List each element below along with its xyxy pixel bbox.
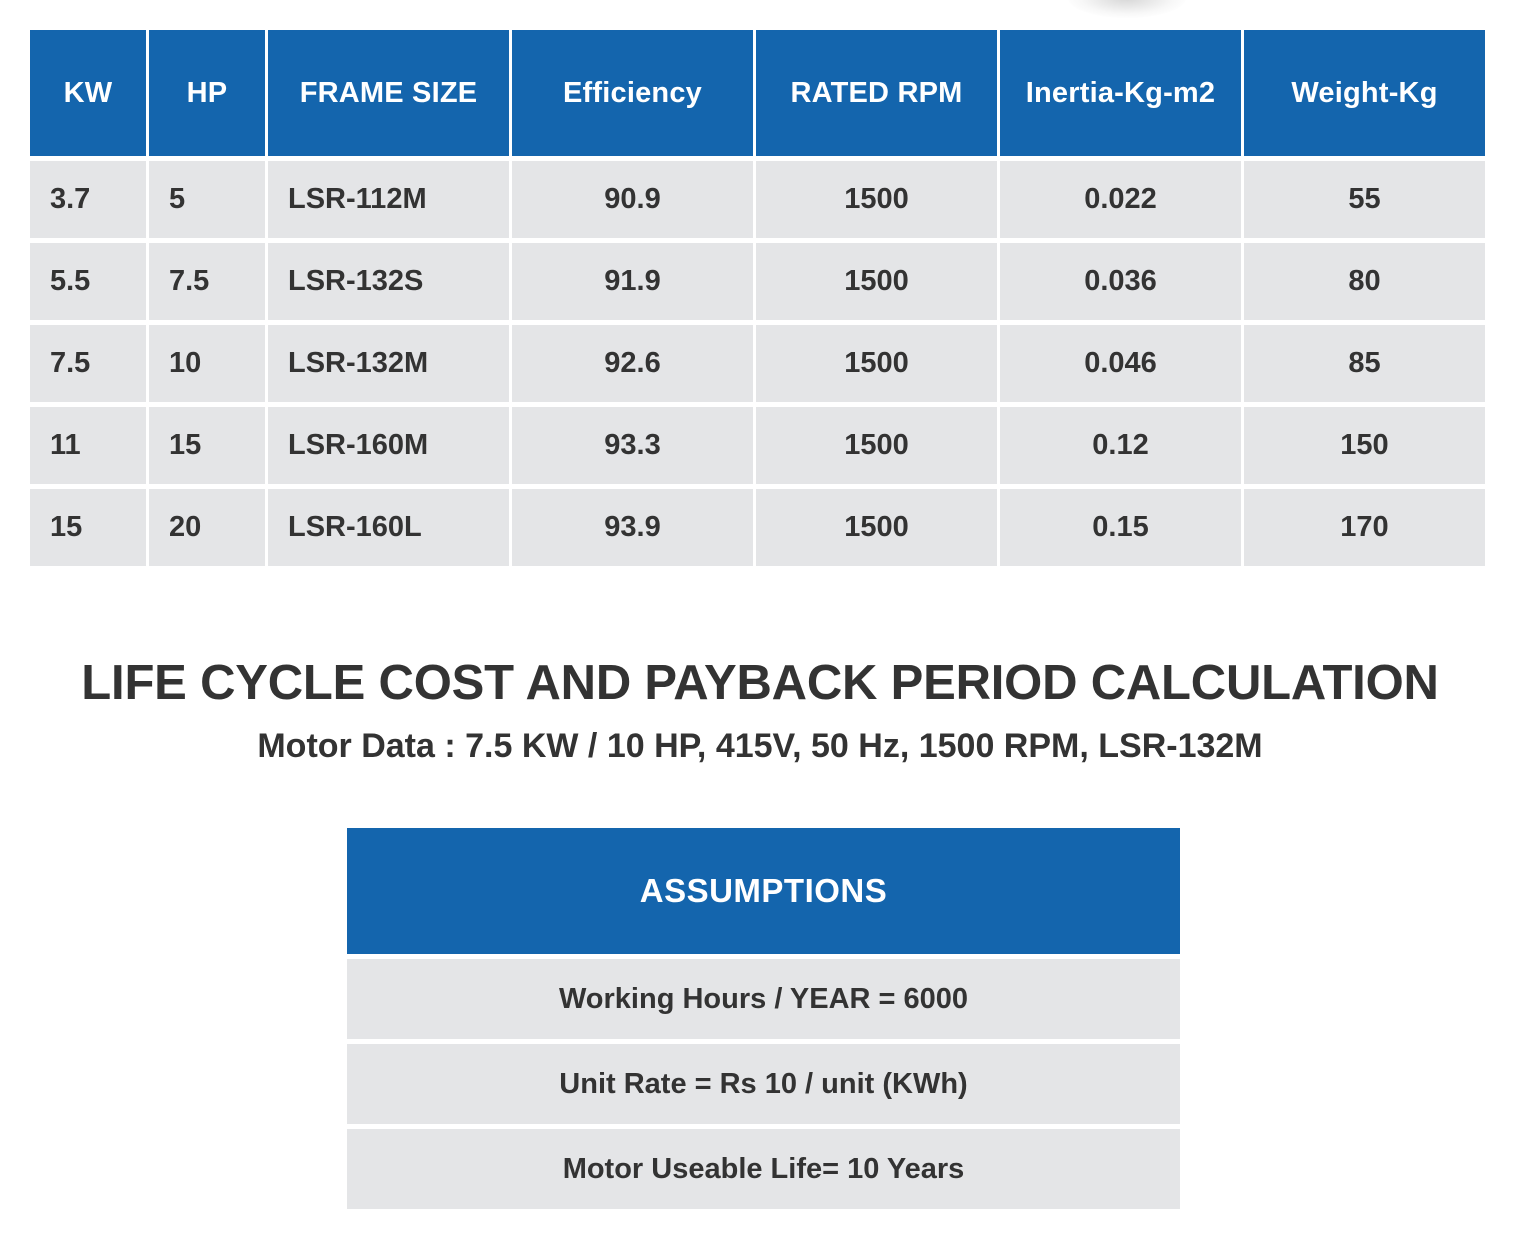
cell-efficiency: 91.9	[512, 243, 753, 320]
assumptions-header: ASSUMPTIONS	[347, 828, 1180, 954]
table-body: 3.7 5 LSR-112M 90.9 1500 0.022 55 5.5 7.…	[30, 161, 1485, 566]
cell-weight: 80	[1244, 243, 1485, 320]
table-header: KW HP FRAME SIZE Efficiency RATED RPM In…	[30, 30, 1485, 156]
cell-frame-size: LSR-160L	[268, 489, 509, 566]
cropped-image-artifact	[1068, 0, 1186, 18]
table-row: 15 20 LSR-160L 93.9 1500 0.15 170	[30, 489, 1485, 566]
assumptions-row-useable-life: Motor Useable Life= 10 Years	[347, 1129, 1180, 1209]
cell-inertia: 0.046	[1000, 325, 1241, 402]
cell-frame-size: LSR-112M	[268, 161, 509, 238]
cell-rated-rpm: 1500	[756, 243, 997, 320]
table-row: 5.5 7.5 LSR-132S 91.9 1500 0.036 80	[30, 243, 1485, 320]
assumptions-table: ASSUMPTIONS Working Hours / YEAR = 6000 …	[347, 828, 1180, 1209]
assumptions-row-unit-rate: Unit Rate = Rs 10 / unit (KWh)	[347, 1044, 1180, 1124]
table-row: 11 15 LSR-160M 93.3 1500 0.12 150	[30, 407, 1485, 484]
column-header-weight: Weight-Kg	[1244, 30, 1485, 156]
table-row: 3.7 5 LSR-112M 90.9 1500 0.022 55	[30, 161, 1485, 238]
cell-hp: 5	[149, 161, 265, 238]
cell-inertia: 0.036	[1000, 243, 1241, 320]
cell-weight: 85	[1244, 325, 1485, 402]
cell-rated-rpm: 1500	[756, 325, 997, 402]
column-header-efficiency: Efficiency	[512, 30, 753, 156]
cell-frame-size: LSR-132M	[268, 325, 509, 402]
column-header-hp: HP	[149, 30, 265, 156]
cell-efficiency: 92.6	[512, 325, 753, 402]
cell-weight: 150	[1244, 407, 1485, 484]
cell-rated-rpm: 1500	[756, 161, 997, 238]
cell-frame-size: LSR-132S	[268, 243, 509, 320]
cell-kw: 5.5	[30, 243, 146, 320]
cell-hp: 10	[149, 325, 265, 402]
cell-frame-size: LSR-160M	[268, 407, 509, 484]
cell-weight: 170	[1244, 489, 1485, 566]
column-header-kw: KW	[30, 30, 146, 156]
cell-kw: 11	[30, 407, 146, 484]
cell-rated-rpm: 1500	[756, 407, 997, 484]
cell-kw: 7.5	[30, 325, 146, 402]
column-header-frame-size: FRAME SIZE	[268, 30, 509, 156]
header-row: KW HP FRAME SIZE Efficiency RATED RPM In…	[30, 30, 1485, 156]
motor-spec-table: KW HP FRAME SIZE Efficiency RATED RPM In…	[27, 25, 1488, 571]
cell-kw: 15	[30, 489, 146, 566]
column-header-rated-rpm: RATED RPM	[756, 30, 997, 156]
cell-efficiency: 93.9	[512, 489, 753, 566]
cell-efficiency: 90.9	[512, 161, 753, 238]
motor-data-subtitle: Motor Data : 7.5 KW / 10 HP, 415V, 50 Hz…	[0, 727, 1520, 766]
cell-weight: 55	[1244, 161, 1485, 238]
assumptions-row-working-hours: Working Hours / YEAR = 6000	[347, 959, 1180, 1039]
cell-kw: 3.7	[30, 161, 146, 238]
cell-efficiency: 93.3	[512, 407, 753, 484]
cell-hp: 7.5	[149, 243, 265, 320]
cell-hp: 15	[149, 407, 265, 484]
cell-inertia: 0.12	[1000, 407, 1241, 484]
cell-hp: 20	[149, 489, 265, 566]
cell-inertia: 0.022	[1000, 161, 1241, 238]
table-row: 7.5 10 LSR-132M 92.6 1500 0.046 85	[30, 325, 1485, 402]
cell-rated-rpm: 1500	[756, 489, 997, 566]
column-header-inertia: Inertia-Kg-m2	[1000, 30, 1241, 156]
cell-inertia: 0.15	[1000, 489, 1241, 566]
motor-spec-table-container: KW HP FRAME SIZE Efficiency RATED RPM In…	[30, 30, 1488, 566]
page-title: LIFE CYCLE COST AND PAYBACK PERIOD CALCU…	[0, 655, 1520, 711]
